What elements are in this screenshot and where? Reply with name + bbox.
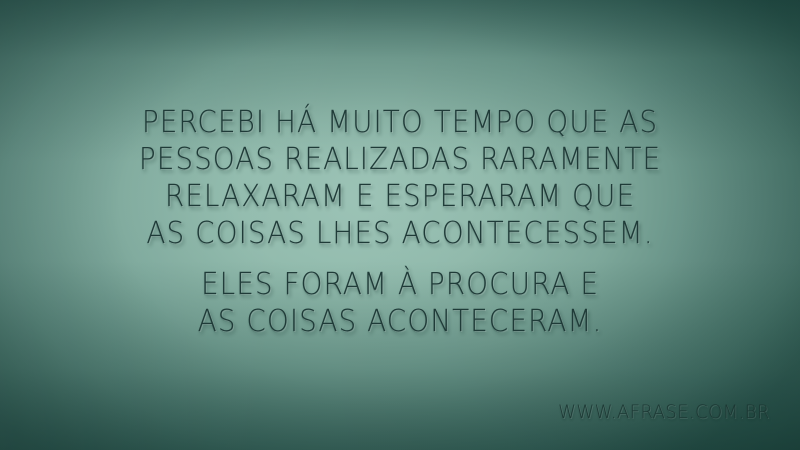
quote-line: PERCEBI HÁ MUITO TEMPO QUE AS	[28, 104, 772, 141]
quote-line: AS COISAS ACONTECERAM.	[28, 303, 772, 340]
quote-paragraph-1: PERCEBI HÁ MUITO TEMPO QUE AS PESSOAS RE…	[0, 104, 800, 252]
quote-line: PESSOAS REALIZADAS RARAMENTE	[28, 141, 772, 178]
quote-text-block: PERCEBI HÁ MUITO TEMPO QUE AS PESSOAS RE…	[0, 104, 800, 340]
quote-paragraph-2: ELES FORAM À PROCURA E AS COISAS ACONTEC…	[0, 266, 800, 340]
quote-line: RELAXARAM E ESPERARAM QUE	[28, 178, 772, 215]
quote-card: PERCEBI HÁ MUITO TEMPO QUE AS PESSOAS RE…	[0, 0, 800, 450]
quote-line: ELES FORAM À PROCURA E	[28, 266, 772, 303]
site-watermark: WWW.AFRASE.COM.BR	[558, 401, 770, 423]
quote-line: AS COISAS LHES ACONTECESSEM.	[28, 215, 772, 252]
